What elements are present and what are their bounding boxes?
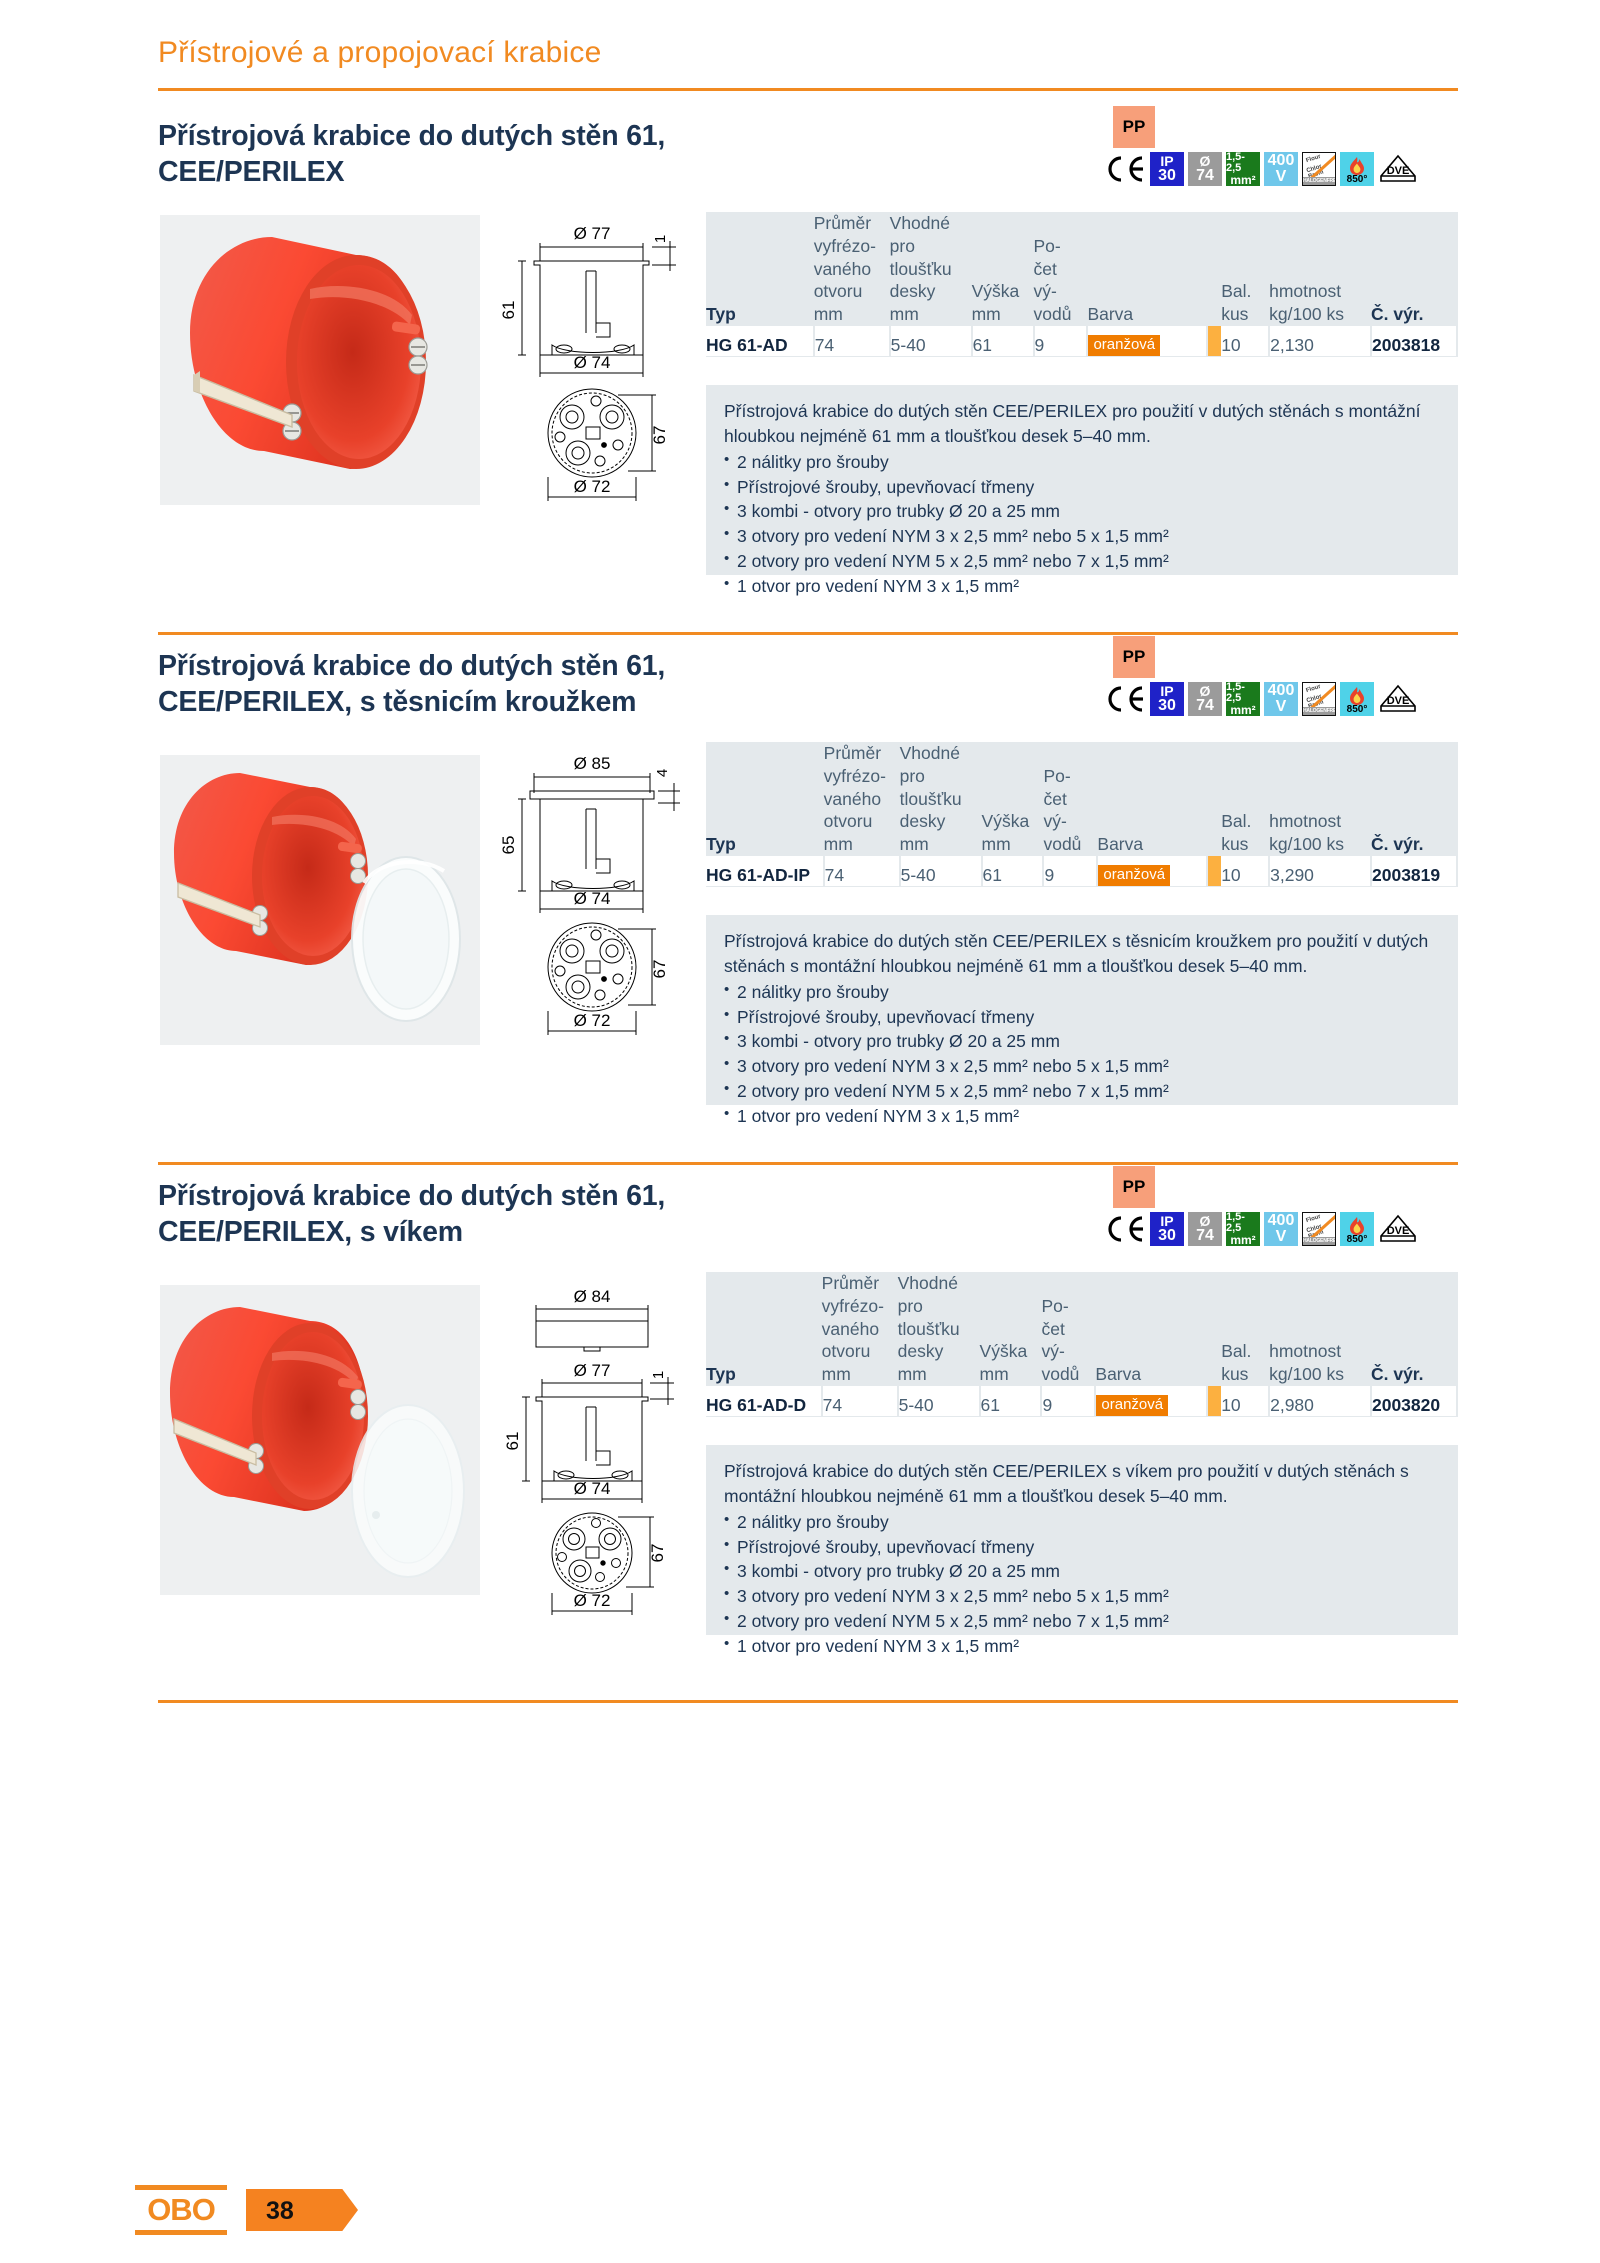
ce-icon-3 [1104,1212,1146,1246]
page-number: 38 [266,2197,294,2226]
technical-drawing-1: Ø 77 1 61 [500,205,700,545]
material-badge-pp-2: PP [1113,636,1155,678]
product-photo-1 [160,215,480,505]
section-3-title: Přístrojová krabice do dutých stěn 61, C… [158,1178,665,1250]
cell-thickness: 5-40 [900,856,982,886]
list-item: 3 otvory pro vedení NYM 3 x 2,5 mm² nebo… [724,1054,1440,1079]
list-item: 2 nálitky pro šrouby [724,1510,1440,1535]
th-weight: hmotnostkg/100 ks [1269,742,1371,856]
th-colorbar [1207,1272,1221,1386]
halogen-free-icon-1: Flour Chlor Brom HALOGENFREE [1302,152,1336,186]
th-pack: Bal.kus [1221,742,1269,856]
svg-text:Ø 74: Ø 74 [574,353,611,372]
cell-color: oranžová [1097,856,1207,886]
cell-article: 2003820 [1371,1386,1457,1416]
svg-text:65: 65 [500,836,518,855]
cell-thickness: 5-40 [890,326,972,356]
cell-weight: 2,130 [1269,326,1371,356]
cell-article: 2003819 [1371,856,1457,886]
svg-text:Ø 72: Ø 72 [574,1591,611,1610]
th-article: Č. výr. [1371,212,1457,326]
th-diameter: Průměrvyfrézo- vanéhootvoru mm [824,742,900,856]
section-1-title-line1: Přístrojová krabice do dutých stěn 61, [158,118,665,154]
description-panel-2: Přístrojová krabice do dutých stěn CEE/P… [706,915,1458,1105]
th-pack: Bal.kus [1221,1272,1269,1386]
svg-text:61: 61 [503,1432,522,1451]
material-badge-pp-3: PP [1113,1166,1155,1208]
th-typ: Typ [706,212,814,326]
th-article: Č. výr. [1371,1272,1457,1386]
cell-weight: 3,290 [1269,856,1371,886]
list-item: 3 kombi - otvory pro trubky Ø 20 a 25 mm [724,1029,1440,1054]
obo-logo-bar-bottom [135,2230,227,2235]
list-item: 3 otvory pro vedení NYM 3 x 2,5 mm² nebo… [724,524,1440,549]
product-photo-3 [160,1285,480,1595]
cell-height: 61 [982,856,1044,886]
list-item: 2 otvory pro vedení NYM 5 x 2,5 mm² nebo… [724,1079,1440,1104]
cell-outlets: 9 [1043,856,1097,886]
description-text-3: Přístrojová krabice do dutých stěn CEE/P… [724,1459,1440,1509]
th-diameter: Průměrvyfrézo- vanéhootvoru mm [822,1272,898,1386]
spec-table-inner-1: Typ Průměrvyfrézo- vanéhootvoru mm Vhodn… [706,212,1458,356]
material-badge-pp-1: PP [1113,106,1155,148]
header-rule [158,88,1458,91]
svg-text:1: 1 [652,235,669,243]
th-height: Výškamm [980,1272,1042,1386]
catalog-page: Přístrojové a propojovací krabice Přístr… [0,0,1600,2263]
list-item: 2 nálitky pro šrouby [724,450,1440,475]
svg-text:Ø 84: Ø 84 [574,1287,611,1306]
section-3-bottom-rule [158,1700,1458,1703]
voltage-badge-2: 400V [1264,682,1298,716]
cell-weight: 2,980 [1269,1386,1371,1416]
list-item: Přístrojové šrouby, upevňovací třmeny [724,1535,1440,1560]
ip30-badge-3: IP30 [1150,1212,1184,1246]
cell-color: oranžová [1087,326,1207,356]
svg-text:DVE: DVE [1387,1225,1410,1237]
ip30-badge-1: IP 30 [1150,152,1184,186]
th-outlets: Po-čet vý-vodů [1041,1272,1095,1386]
th-typ: Typ [706,1272,822,1386]
list-item: 3 kombi - otvory pro trubky Ø 20 a 25 mm [724,499,1440,524]
th-article: Č. výr. [1371,742,1457,856]
section-1-title-line2: CEE/PERILEX [158,154,665,190]
badge-row-1: IP 30 Ø 74 1,5-2,5 mm² 400 V Flour Chlor… [1104,152,1418,186]
section-2-title-line2: CEE/PERILEX, s těsnicím kroužkem [158,684,665,720]
section-1-title: Přístrojová krabice do dutých stěn 61, C… [158,118,665,190]
cross-section-badge-2: 1,5-2,5mm² [1226,682,1260,716]
th-typ: Typ [706,742,824,856]
cell-colorbar [1207,326,1221,356]
voltage-badge-3: 400V [1264,1212,1298,1246]
list-item: 1 otvor pro vedení NYM 3 x 1,5 mm² [724,574,1440,599]
spec-table-1: Typ Průměrvyfrézo- vanéhootvoru mm Vhodn… [706,212,1458,357]
halogen-free-icon-3: Flour Chlor Brom HALOGENFREE [1302,1212,1336,1246]
description-panel-3: Přístrojová krabice do dutých stěn CEE/P… [706,1445,1458,1635]
ce-icon-1 [1104,152,1146,186]
svg-text:Ø 77: Ø 77 [574,224,611,243]
diameter-badge-1: Ø 74 [1188,152,1222,186]
table-header-row: Typ Průměrvyfrézo- vanéhootvoru mm Vhodn… [706,1272,1457,1386]
list-item: 1 otvor pro vedení NYM 3 x 1,5 mm² [724,1104,1440,1129]
svg-text:Ø 77: Ø 77 [574,1361,611,1380]
diameter-badge-2: Ø74 [1188,682,1222,716]
description-text-2: Přístrojová krabice do dutých stěn CEE/P… [724,929,1440,979]
th-color: Barva [1087,212,1207,326]
th-thickness: Vhodnépro tloušťkudesky mm [898,1272,980,1386]
th-thickness: Vhodnépro tloušťkudesky mm [890,212,972,326]
svg-text:61: 61 [500,301,518,320]
cross-section-badge-3: 1,5-2,5mm² [1226,1212,1260,1246]
list-item: Přístrojové šrouby, upevňovací třmeny [724,475,1440,500]
table-header-row: Typ Průměrvyfrézo- vanéhootvoru mm Vhodn… [706,742,1457,856]
description-panel-1: Přístrojová krabice do dutých stěn CEE/P… [706,385,1458,575]
cell-thickness: 5-40 [898,1386,980,1416]
vde-icon-3: DVE [1378,1212,1418,1246]
page-number-tag [246,2189,358,2231]
svg-text:Ø 72: Ø 72 [574,477,611,496]
color-swatch: oranžová [1098,865,1170,886]
technical-drawing-3: Ø 84 Ø 77 1 [500,1285,700,1635]
obo-logo-bar-top [135,2185,227,2190]
cell-typ: HG 61-AD-IP [706,856,824,886]
th-color: Barva [1097,742,1207,856]
cell-diameter: 74 [822,1386,898,1416]
svg-text:Ø 85: Ø 85 [574,754,611,773]
th-weight: hmotnostkg/100 ks [1269,212,1371,326]
table-header-row: Typ Průměrvyfrézo- vanéhootvoru mm Vhodn… [706,212,1457,326]
halogen-free-icon-2: Flour Chlor Brom HALOGENFREE [1302,682,1336,716]
section-2-rule [158,632,1458,635]
th-diameter: Průměrvyfrézo- vanéhootvoru mm [814,212,890,326]
svg-text:67: 67 [650,426,669,445]
spec-table-3: Typ Průměrvyfrézo- vanéhootvoru mm Vhodn… [706,1272,1458,1417]
th-height: Výškamm [972,212,1034,326]
spec-table-2: Typ Průměrvyfrézo- vanéhootvoru mm Vhodn… [706,742,1458,887]
list-item: 1 otvor pro vedení NYM 3 x 1,5 mm² [724,1634,1440,1659]
diameter-badge-3: Ø74 [1188,1212,1222,1246]
svg-text:4: 4 [654,769,671,777]
cell-outlets: 9 [1041,1386,1095,1416]
th-color: Barva [1095,1272,1207,1386]
description-text-1: Přístrojová krabice do dutých stěn CEE/P… [724,399,1440,449]
cell-height: 61 [980,1386,1042,1416]
spec-table-inner-2: Typ Průměrvyfrézo- vanéhootvoru mm Vhodn… [706,742,1458,886]
cell-diameter: 74 [824,856,900,886]
badge-row-2: IP30 Ø74 1,5-2,5mm² 400V Flour Chlor Bro… [1104,682,1418,716]
table-row: HG 61-AD 74 5-40 61 9 oranžová 10 2,130 … [706,326,1457,356]
feature-list-3: 2 nálitky pro šrouby Přístrojové šrouby,… [724,1510,1440,1659]
cross-section-badge-1: 1,5-2,5 mm² [1226,152,1260,186]
cell-colorbar [1207,1386,1221,1416]
feature-list-2: 2 nálitky pro šrouby Přístrojové šrouby,… [724,980,1440,1129]
th-weight: hmotnostkg/100 ks [1269,1272,1371,1386]
badge-row-3: IP30 Ø74 1,5-2,5mm² 400V Flour Chlor Bro… [1104,1212,1418,1246]
section-3-title-line1: Přístrojová krabice do dutých stěn 61, [158,1178,665,1214]
th-colorbar [1207,212,1221,326]
cell-typ: HG 61-AD [706,326,814,356]
product-photo-2 [160,755,480,1045]
svg-text:67: 67 [650,960,669,979]
cell-colorbar [1207,856,1221,886]
voltage-badge-1: 400 V [1264,152,1298,186]
list-item: 2 otvory pro vedení NYM 5 x 2,5 mm² nebo… [724,549,1440,574]
list-item: Přístrojové šrouby, upevňovací třmeny [724,1005,1440,1030]
svg-text:67: 67 [648,1544,667,1563]
section-3-rule [158,1162,1458,1165]
table-row: HG 61-AD-IP 74 5-40 61 9 oranžová 10 3,2… [706,856,1457,886]
svg-text:1: 1 [650,1371,667,1379]
th-pack: Bal.kus [1221,212,1269,326]
glow-wire-icon-1: 850° [1340,152,1374,186]
cell-article: 2003818 [1371,326,1457,356]
svg-text:Ø 74: Ø 74 [574,1479,611,1498]
th-outlets: Po-čet vý-vodů [1034,212,1088,326]
spec-table-inner-3: Typ Průměrvyfrézo- vanéhootvoru mm Vhodn… [706,1272,1458,1416]
cell-diameter: 74 [814,326,890,356]
color-swatch: oranžová [1096,1395,1168,1416]
vde-icon-1: DVE [1378,152,1418,186]
svg-text:DVE: DVE [1387,165,1410,177]
cell-height: 61 [972,326,1034,356]
th-colorbar [1207,742,1221,856]
section-2-title-line1: Přístrojová krabice do dutých stěn 61, [158,648,665,684]
svg-text:Ø 72: Ø 72 [574,1011,611,1030]
list-item: 2 nálitky pro šrouby [724,980,1440,1005]
cell-pack: 10 [1221,326,1269,356]
list-item: 3 otvory pro vedení NYM 3 x 2,5 mm² nebo… [724,1584,1440,1609]
glow-wire-icon-3: 850° [1340,1212,1374,1246]
list-item: 3 kombi - otvory pro trubky Ø 20 a 25 mm [724,1559,1440,1584]
section-2-title: Přístrojová krabice do dutých stěn 61, C… [158,648,665,720]
glow-wire-icon-2: 850° [1340,682,1374,716]
ip30-badge-2: IP30 [1150,682,1184,716]
th-outlets: Po-čet vý-vodů [1043,742,1097,856]
section-3-title-line2: CEE/PERILEX, s víkem [158,1214,665,1250]
obo-logo-text: OBO [135,2193,227,2226]
color-swatch: oranžová [1088,335,1160,356]
cell-pack: 10 [1221,1386,1269,1416]
table-row: HG 61-AD-D 74 5-40 61 9 oranžová 10 2,98… [706,1386,1457,1416]
cell-outlets: 9 [1034,326,1088,356]
vde-icon-2: DVE [1378,682,1418,716]
cell-pack: 10 [1221,856,1269,886]
th-thickness: Vhodnépro tloušťkudesky mm [900,742,982,856]
svg-text:DVE: DVE [1387,695,1410,707]
cell-color: oranžová [1095,1386,1207,1416]
technical-drawing-2: Ø 85 4 65 [500,735,700,1075]
running-head: Přístrojové a propojovací krabice [158,36,1458,70]
obo-logo: OBO [135,2185,227,2235]
running-head-text: Přístrojové a propojovací krabice [158,36,1458,70]
svg-text:Ø 74: Ø 74 [574,889,611,908]
th-height: Výškamm [982,742,1044,856]
ce-icon-2 [1104,682,1146,716]
feature-list-1: 2 nálitky pro šrouby Přístrojové šrouby,… [724,450,1440,599]
cell-typ: HG 61-AD-D [706,1386,822,1416]
list-item: 2 otvory pro vedení NYM 5 x 2,5 mm² nebo… [724,1609,1440,1634]
